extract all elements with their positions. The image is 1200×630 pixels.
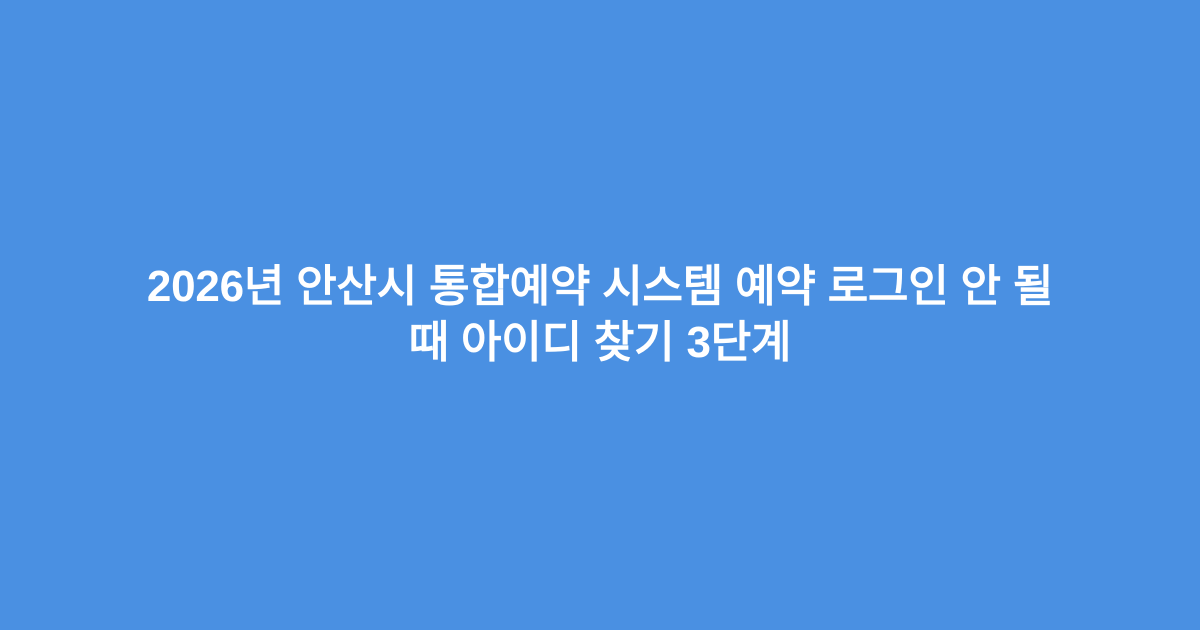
thumbnail-card: 2026년 안산시 통합예약 시스템 예약 로그인 안 될 때 아이디 찾기 3… xyxy=(0,0,1200,630)
title-line-2: 때 아이디 찾기 3단계 xyxy=(70,315,1130,371)
title-line-1: 2026년 안산시 통합예약 시스템 예약 로그인 안 될 xyxy=(70,259,1130,315)
page-title: 2026년 안산시 통합예약 시스템 예약 로그인 안 될 때 아이디 찾기 3… xyxy=(50,259,1150,371)
